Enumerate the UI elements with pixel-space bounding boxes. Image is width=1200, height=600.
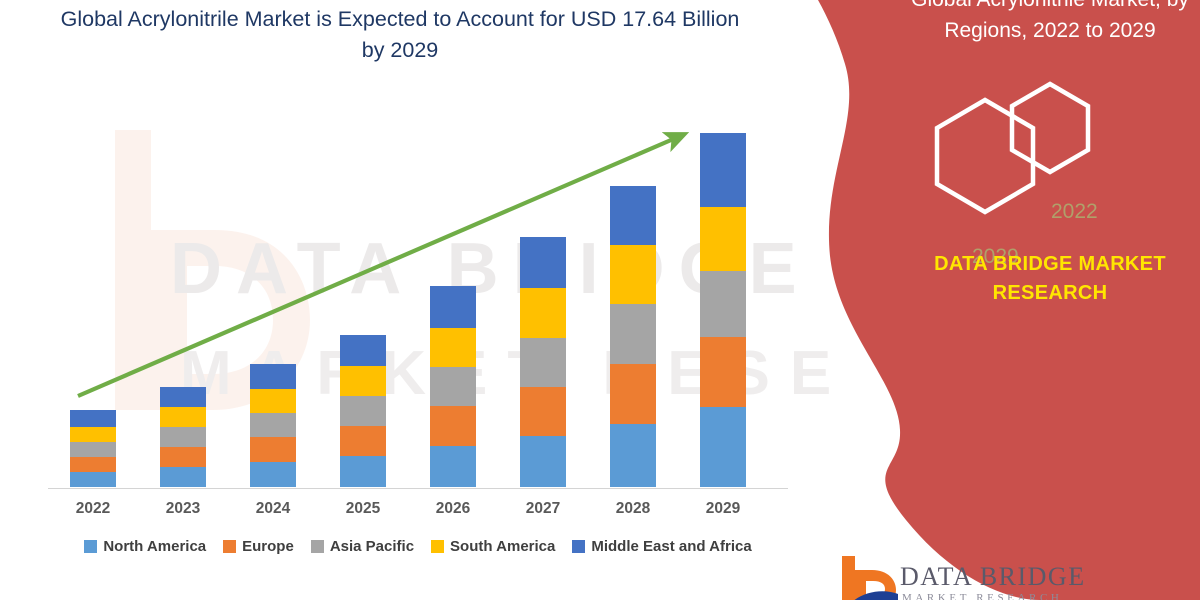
x-axis-label-2027: 2027 [503,500,583,518]
bar-segment-europe [250,437,296,462]
legend-label: Europe [242,538,294,555]
bar-segment-north-america [520,436,566,487]
footer-logo-name: DATA BRIDGE [900,562,1086,592]
bar-segment-europe [70,457,116,472]
x-axis-label-2029: 2029 [683,500,763,518]
legend-label: South America [450,538,555,555]
x-axis-label-2025: 2025 [323,500,403,518]
bar-segment-north-america [430,446,476,487]
bar-segment-north-america [160,467,206,487]
x-axis-label-2028: 2028 [593,500,673,518]
bar-2023 [160,387,206,487]
bar-segment-south-america [160,407,206,427]
bar-segment-south-america [340,366,386,396]
bar-segment-middle-east-and-africa [700,133,746,207]
brand-line1: DATA BRIDGE MARKET [900,250,1200,279]
bar-segment-europe [700,337,746,407]
footer-logo: DATA BRIDGE MARKET RESEARCH [838,552,1138,600]
x-axis-label-2024: 2024 [233,500,313,518]
bar-segment-europe [340,426,386,456]
bar-segment-europe [430,406,476,446]
x-axis-line [48,488,788,489]
bar-segment-asia-pacific [70,442,116,457]
legend-item-europe[interactable]: Europe [223,538,294,555]
chart-legend: North AmericaEuropeAsia PacificSouth Ame… [48,538,788,555]
brand-line2: RESEARCH [900,279,1200,308]
legend-swatch-icon [84,540,97,553]
bar-segment-south-america [700,207,746,271]
bar-segment-asia-pacific [610,304,656,363]
bar-segment-middle-east-and-africa [340,335,386,366]
bar-segment-north-america [250,462,296,487]
red-panel-content: Global Acrylonitrile Market, by Regions,… [900,0,1200,600]
bar-segment-south-america [430,328,476,367]
bar-segment-asia-pacific [700,271,746,338]
bar-segment-north-america [340,456,386,487]
legend-item-south-america[interactable]: South America [431,538,555,555]
bar-segment-middle-east-and-africa [610,186,656,245]
brand-name: DATA BRIDGE MARKET RESEARCH [900,250,1200,308]
red-panel-heading: Global Acrylonitrile Market, by Regions,… [890,0,1200,46]
hex-badge-2022-label: 2022 [1051,200,1098,224]
legend-item-north-america[interactable]: North America [84,538,206,555]
bar-2028 [610,186,656,487]
bar-segment-south-america [70,427,116,442]
bar-segment-europe [160,447,206,467]
red-panel-heading-line2: Regions, 2022 to 2029 [890,15,1200,46]
x-axis-label-2023: 2023 [143,500,223,518]
legend-swatch-icon [223,540,236,553]
x-axis-label-2026: 2026 [413,500,493,518]
bar-segment-middle-east-and-africa [160,387,206,407]
x-axis-label-2022: 2022 [53,500,133,518]
footer-logo-tagline: MARKET RESEARCH [902,592,1062,600]
chart-panel: DATA BRIDGE MARKET RESEARCH Global Acryl… [0,0,830,600]
databridge-mark-icon [838,554,898,600]
infographic-root: DATA BRIDGE MARKET RESEARCH Global Acryl… [0,0,1200,600]
legend-swatch-icon [572,540,585,553]
bar-segment-south-america [610,245,656,304]
bar-segment-south-america [250,389,296,413]
red-panel-heading-line1: Global Acrylonitrile Market, by [890,0,1200,15]
legend-item-middle-east-and-africa[interactable]: Middle East and Africa [572,538,751,555]
bar-segment-middle-east-and-africa [520,237,566,288]
bar-2022 [70,410,116,487]
bar-2029 [700,133,746,487]
plot-area: 20222023202420252026202720282029 [0,0,830,600]
legend-label: North America [103,538,206,555]
bar-segment-middle-east-and-africa [70,410,116,427]
bar-segment-south-america [520,288,566,337]
bar-2025 [340,335,386,487]
bar-2027 [520,237,566,487]
bar-2026 [430,286,476,487]
legend-swatch-icon [431,540,444,553]
bar-segment-europe [520,387,566,436]
bar-segment-asia-pacific [340,396,386,426]
legend-label: Middle East and Africa [591,538,751,555]
bar-segment-europe [610,364,656,424]
legend-item-asia-pacific[interactable]: Asia Pacific [311,538,414,555]
bar-segment-middle-east-and-africa [250,364,296,389]
bar-segment-middle-east-and-africa [430,286,476,327]
bar-segment-north-america [610,424,656,487]
legend-label: Asia Pacific [330,538,414,555]
bar-segment-north-america [700,407,746,487]
legend-swatch-icon [311,540,324,553]
bar-segment-north-america [70,472,116,487]
bar-segment-asia-pacific [250,413,296,437]
bar-segment-asia-pacific [520,338,566,387]
hexagon-badges: 2022 2029 [920,78,1190,228]
bar-2024 [250,364,296,487]
bar-segment-asia-pacific [430,367,476,406]
bar-segment-asia-pacific [160,427,206,447]
